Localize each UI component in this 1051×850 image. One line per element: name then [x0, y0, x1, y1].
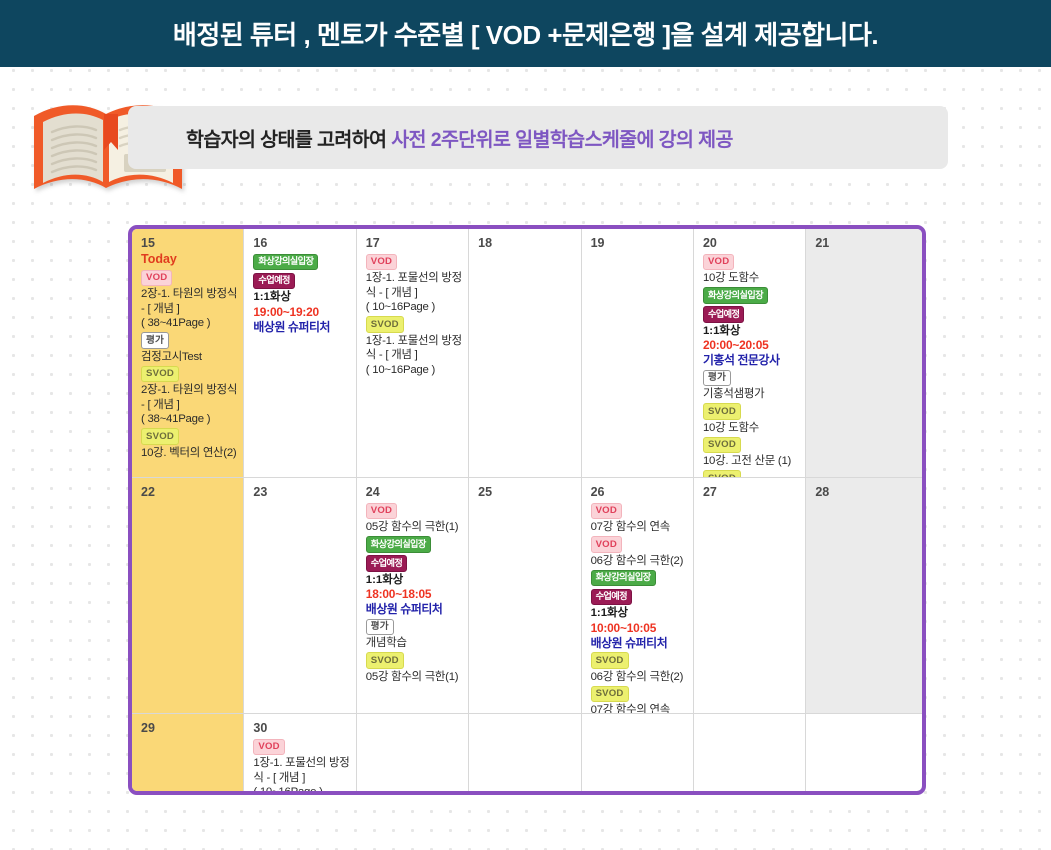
day-number: 22 [141, 485, 237, 499]
badge-vod[interactable]: VOD [703, 254, 734, 271]
event-time: 18:00~18:05 [366, 587, 462, 602]
badge-room[interactable]: 화상강의실입장 [253, 254, 318, 271]
day-number: 18 [478, 236, 574, 250]
calendar-event[interactable]: VOD1장-1. 포물선의 방정식 - [ 개념 ]( 10~16Page ) [253, 737, 349, 795]
badge-svod[interactable]: SVOD [366, 316, 404, 333]
event-text-line: 05강 함수의 극한(1) [366, 520, 462, 535]
badge-sched[interactable]: 수업예정 [591, 589, 632, 606]
calendar-day-cell-25[interactable]: 25 [469, 478, 581, 713]
day-number: 19 [591, 236, 687, 250]
badge-sched[interactable]: 수업예정 [366, 555, 407, 572]
day-number: 25 [478, 485, 574, 499]
calendar-event[interactable]: SVOD10강 도함수 [703, 402, 799, 436]
badge-vod[interactable]: VOD [253, 739, 284, 756]
event-text-line: ( 10~16Page ) [253, 785, 349, 795]
event-tutor-name: 배상원 슈퍼티처 [253, 320, 349, 335]
calendar-day-cell-22[interactable]: 22 [132, 478, 244, 713]
badge-room[interactable]: 화상강의실입장 [703, 287, 768, 304]
calendar-event[interactable]: VOD07강 함수의 연속 [591, 501, 687, 535]
event-text-line: 07강 함수의 연속 [591, 520, 687, 535]
event-tutor-name: 배상원 슈퍼티처 [366, 602, 462, 617]
day-number: 23 [253, 485, 349, 499]
calendar-event[interactable]: VOD2장-1. 타원의 방정식- [ 개념 ]( 38~41Page ) [141, 268, 237, 331]
badge-vod[interactable]: VOD [591, 536, 622, 553]
calendar-event[interactable]: SVOD1장-1. 포물선의 방정식 - [ 개념 ]( 10~16Page ) [366, 315, 462, 378]
calendar-day-cell-16[interactable]: 16화상강의실입장수업예정1:1화상19:00~19:20배상원 슈퍼티처 [244, 229, 356, 477]
calendar-event[interactable]: VOD05강 함수의 극한(1) [366, 501, 462, 535]
calendar-day-cell-19[interactable]: 19 [582, 229, 694, 477]
calendar-grid: 15TodayVOD2장-1. 타원의 방정식- [ 개념 ]( 38~41Pa… [128, 225, 926, 795]
calendar-week-row: 222324VOD05강 함수의 극한(1)화상강의실입장수업예정1:1화상18… [132, 478, 922, 714]
event-text-line: - [ 개념 ] [141, 302, 237, 317]
event-text-line: 06강 함수의 극한(2) [591, 554, 687, 569]
event-text-line: 10강 도함수 [703, 421, 799, 436]
calendar-event[interactable]: 수업예정 [703, 305, 799, 324]
event-text-line: ( 38~41Page ) [141, 412, 237, 427]
day-number: 28 [815, 485, 922, 499]
calendar-event[interactable]: 평가기홍석샘평가 [703, 368, 799, 402]
subtitle-banner: 학습자의 상태를 고려하여 사전 2주단위로 일별학습스케줄에 강의 제공 [128, 106, 948, 169]
calendar-day-cell-27[interactable]: 27 [694, 478, 806, 713]
calendar-day-cell-21[interactable]: 21 [806, 229, 926, 477]
event-text-line: 2장-1. 타원의 방정식 [141, 287, 237, 302]
event-time: 20:00~20:05 [703, 338, 799, 353]
page-header: 배정된 튜터 , 멘토가 수준별 [ VOD +문제은행 ]을 설계 제공합니다… [0, 0, 1051, 67]
calendar-event[interactable]: SVOD07강 함수의 연속 [591, 684, 687, 713]
calendar-event[interactable]: 수업예정 [591, 587, 687, 606]
calendar-event[interactable]: VOD1장-1. 포물선의 방정식 - [ 개념 ]( 10~16Page ) [366, 252, 462, 315]
day-number: 20 [703, 236, 799, 250]
calendar-event[interactable]: 수업예정 [366, 554, 462, 573]
event-text-line: 식 - [ 개념 ] [253, 771, 349, 786]
badge-svod[interactable]: SVOD [141, 428, 179, 445]
badge-svod[interactable]: SVOD [366, 652, 404, 669]
calendar-event[interactable]: SVOD05강 함수의 극한(1) [366, 651, 462, 685]
calendar-day-cell-18[interactable]: 18 [469, 229, 581, 477]
event-text-line: - [ 개념 ] [141, 398, 237, 413]
event-time: 10:00~10:05 [591, 621, 687, 636]
day-number: 26 [591, 485, 687, 499]
event-text-line: 개념학습 [366, 636, 462, 651]
day-number: 16 [253, 236, 349, 250]
event-text-line: 06강 함수의 극한(2) [591, 670, 687, 685]
calendar-day-cell-empty[interactable] [357, 714, 469, 795]
calendar-week-row: 15TodayVOD2장-1. 타원의 방정식- [ 개념 ]( 38~41Pa… [132, 229, 922, 478]
badge-svod[interactable]: SVOD [141, 366, 179, 383]
calendar-day-cell-empty[interactable] [694, 714, 806, 795]
event-meeting-type: 1:1화상 [366, 573, 462, 588]
event-text-line: 10강. 고전 산문 (1) [703, 454, 799, 469]
calendar-event[interactable]: 1:1화상18:00~18:05배상원 슈퍼티처 [366, 573, 462, 618]
calendar-event[interactable]: SVOD10강. 고전 산문 (1) [703, 435, 799, 469]
event-text-line: 검정고시Test [141, 350, 237, 365]
badge-eval[interactable]: 평가 [703, 370, 731, 387]
subtitle-prefix: 학습자의 상태를 고려하여 [186, 129, 386, 151]
calendar-event[interactable]: VOD06강 함수의 극한(2) [591, 535, 687, 569]
event-text-line: 기홍석샘평가 [703, 387, 799, 402]
calendar-day-cell-empty[interactable] [582, 714, 694, 795]
event-text-line: 식 - [ 개념 ] [366, 348, 462, 363]
event-meeting-type: 1:1화상 [591, 606, 687, 621]
calendar-day-cell-20[interactable]: 20VOD10강 도함수화상강의실입장수업예정1:1화상20:00~20:05기… [694, 229, 806, 477]
calendar-event[interactable]: 화상강의실입장 [366, 535, 462, 554]
event-text-line: ( 38~41Page ) [141, 316, 237, 331]
page-title: 배정된 튜터 , 멘토가 수준별 [ VOD +문제은행 ]을 설계 제공합니다… [173, 15, 878, 52]
badge-sched[interactable]: 수업예정 [703, 306, 744, 323]
event-meeting-type: 1:1화상 [253, 290, 349, 305]
event-tutor-name: 배상원 슈퍼티처 [591, 636, 687, 651]
calendar-event[interactable]: 화상강의실입장 [703, 286, 799, 305]
day-number: 24 [366, 485, 462, 499]
calendar-day-cell-23[interactable]: 23 [244, 478, 356, 713]
badge-room[interactable]: 화상강의실입장 [591, 570, 656, 587]
badge-svod[interactable]: SVOD [703, 470, 741, 477]
day-number: 27 [703, 485, 799, 499]
event-text-line: 2장-1. 타원의 방정식 [141, 383, 237, 398]
badge-vod[interactable]: VOD [591, 503, 622, 520]
calendar-day-cell-15[interactable]: 15TodayVOD2장-1. 타원의 방정식- [ 개념 ]( 38~41Pa… [132, 229, 244, 477]
subtitle-accent: 사전 2주단위로 일별학습스케줄에 강의 제공 [391, 129, 733, 151]
badge-eval[interactable]: 평가 [366, 619, 394, 636]
badge-svod[interactable]: SVOD [591, 686, 629, 703]
subtitle-text: 학습자의 상태를 고려하여 사전 2주단위로 일별학습스케줄에 강의 제공 [186, 123, 733, 152]
event-tutor-name: 기홍석 전문강사 [703, 353, 799, 368]
badge-svod[interactable]: SVOD [591, 652, 629, 669]
event-text-line: 10강. 벡터의 연산(2) [141, 446, 237, 461]
event-text-line: 1장-1. 포물선의 방정 [366, 271, 462, 286]
calendar-event[interactable]: 평가개념학습 [366, 617, 462, 651]
calendar-day-cell-empty[interactable] [469, 714, 581, 795]
event-text-line: 1장-1. 포물선의 방정 [366, 334, 462, 349]
badge-room[interactable]: 화상강의실입장 [366, 536, 431, 553]
calendar-week-row: 2930VOD1장-1. 포물선의 방정식 - [ 개념 ]( 10~16Pag… [132, 714, 922, 795]
event-text-line: 10강 도함수 [703, 271, 799, 286]
calendar-day-cell-empty[interactable] [806, 714, 926, 795]
day-number: 17 [366, 236, 462, 250]
calendar-day-cell-24[interactable]: 24VOD05강 함수의 극한(1)화상강의실입장수업예정1:1화상18:00~… [357, 478, 469, 713]
event-text-line: 05강 함수의 극한(1) [366, 670, 462, 685]
today-label: Today [141, 252, 237, 267]
event-time: 19:00~19:20 [253, 305, 349, 320]
event-text-line: 07강 함수의 연속 [591, 703, 687, 713]
calendar-event[interactable]: 화상강의실입장 [253, 252, 349, 271]
badge-vod[interactable]: VOD [141, 270, 172, 287]
calendar-event[interactable]: VOD10강 도함수 [703, 252, 799, 286]
calendar-event[interactable]: 화상강의실입장 [591, 568, 687, 587]
calendar-event[interactable]: SVOD06강 함수의 극한(2) [591, 651, 687, 685]
calendar-event[interactable]: SVOD15강. 삼각함수의 미분(4) [703, 469, 799, 478]
calendar-day-cell-29[interactable]: 29 [132, 714, 244, 795]
calendar-day-cell-28[interactable]: 28 [806, 478, 926, 713]
day-number: 30 [253, 721, 349, 735]
calendar-event[interactable]: SVOD2장-1. 타원의 방정식- [ 개념 ]( 38~41Page ) [141, 364, 237, 427]
calendar-event[interactable]: SVOD10강. 벡터의 연산(2) [141, 427, 237, 461]
badge-eval[interactable]: 평가 [141, 332, 169, 349]
calendar-event[interactable]: 수업예정 [253, 271, 349, 290]
day-number: 21 [815, 236, 922, 250]
event-text-line: 1장-1. 포물선의 방정 [253, 756, 349, 771]
calendar-event[interactable]: 1:1화상20:00~20:05기홍석 전문강사 [703, 324, 799, 369]
event-text-line: 식 - [ 개념 ] [366, 286, 462, 301]
calendar-event[interactable]: 1:1화상19:00~19:20배상원 슈퍼티처 [253, 290, 349, 335]
event-text-line: ( 10~16Page ) [366, 363, 462, 378]
calendar-event[interactable]: 평가검정고시Test [141, 331, 237, 365]
day-number: 15 [141, 236, 237, 250]
calendar-day-cell-30[interactable]: 30VOD1장-1. 포물선의 방정식 - [ 개념 ]( 10~16Page … [244, 714, 356, 795]
badge-sched[interactable]: 수업예정 [253, 273, 294, 290]
calendar-event[interactable]: 1:1화상10:00~10:05배상원 슈퍼티처 [591, 606, 687, 651]
badge-vod[interactable]: VOD [366, 503, 397, 520]
event-meeting-type: 1:1화상 [703, 324, 799, 339]
calendar-day-cell-17[interactable]: 17VOD1장-1. 포물선의 방정식 - [ 개념 ]( 10~16Page … [357, 229, 469, 477]
day-number: 29 [141, 721, 237, 735]
calendar-day-cell-26[interactable]: 26VOD07강 함수의 연속VOD06강 함수의 극한(2)화상강의실입장수업… [582, 478, 694, 713]
event-text-line: ( 10~16Page ) [366, 300, 462, 315]
badge-vod[interactable]: VOD [366, 254, 397, 271]
badge-svod[interactable]: SVOD [703, 403, 741, 420]
badge-svod[interactable]: SVOD [703, 437, 741, 454]
